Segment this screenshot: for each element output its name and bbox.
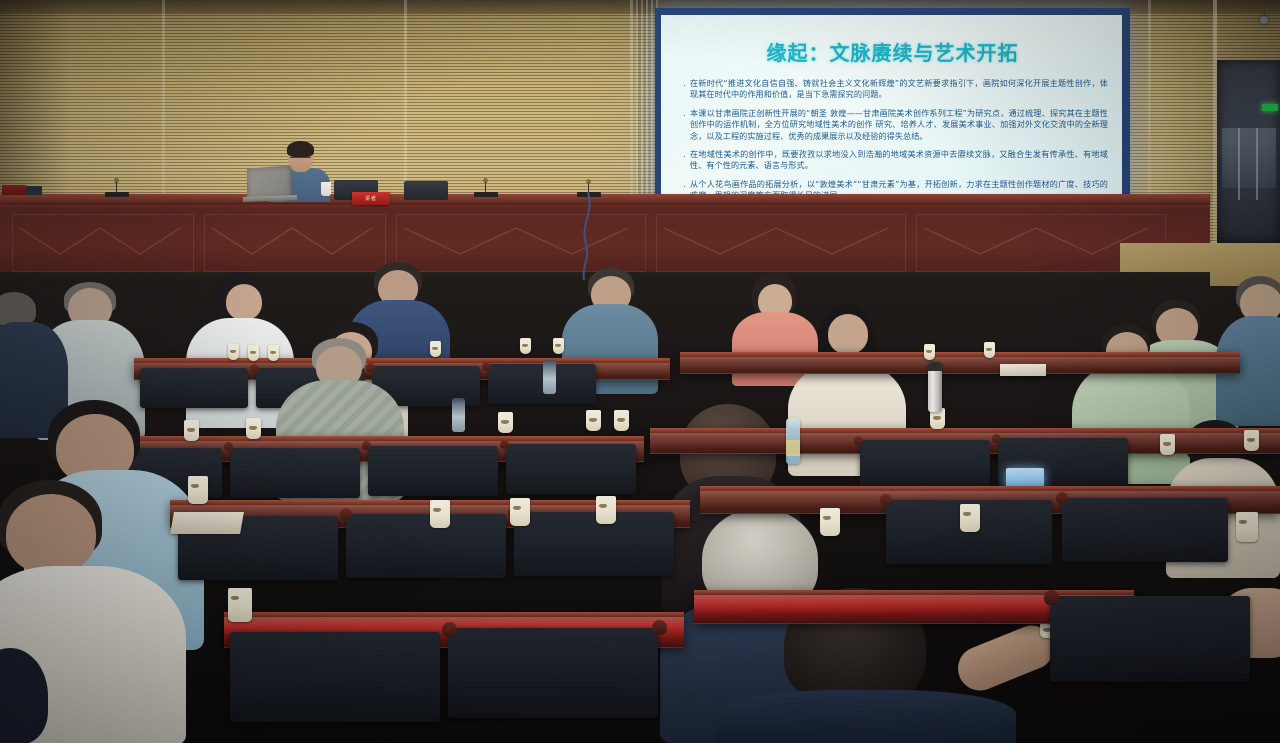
paper-cup — [188, 476, 208, 504]
thermos-flask — [928, 362, 942, 412]
paper-cup — [228, 588, 252, 622]
seat-arm — [482, 362, 491, 371]
paper-cup — [1244, 430, 1259, 451]
paper-cup — [820, 508, 840, 536]
bullet-dot-icon: · — [683, 180, 686, 192]
seat-arm — [854, 436, 863, 445]
paper-cup — [1236, 512, 1258, 542]
nameplate-label: 讲者 — [352, 192, 390, 205]
paper-cup — [960, 504, 980, 532]
seat-arm — [442, 622, 457, 637]
paper-cup — [498, 412, 513, 433]
presenter-hair — [287, 141, 314, 157]
exit-sign-icon — [1262, 104, 1278, 111]
seat-arm — [992, 434, 1001, 443]
doorway-glass — [1222, 128, 1276, 188]
bullet-dot-icon: · — [683, 150, 686, 162]
slide-title: 缘起：文脉赓续与艺术开拓 — [677, 37, 1108, 66]
seat-back — [1062, 498, 1228, 562]
open-notebook — [170, 512, 244, 534]
seat-arm — [880, 494, 892, 506]
paper-cup — [184, 420, 199, 441]
paper-cup — [553, 338, 564, 354]
pendant-light-icon — [1260, 16, 1268, 24]
stage-water-cup — [321, 182, 331, 196]
paper-cup — [228, 344, 239, 360]
paper-cup — [984, 342, 995, 358]
seat-back — [346, 514, 506, 578]
seat-arm — [224, 442, 233, 451]
list-item: · 在地域性美术的创作中，既要孜孜以求地没入到浩瀚的地域美术资源中去赓续文脉，又… — [683, 149, 1108, 172]
bullet-text: 在地域性美术的创作中，既要孜孜以求地没入到浩瀚的地域美术资源中去赓续文脉，又融合… — [690, 149, 1108, 172]
seat-back — [230, 632, 440, 722]
paper-cup — [248, 345, 259, 361]
tumbler — [543, 360, 556, 394]
seat-back — [140, 368, 248, 408]
stage-folder — [26, 186, 42, 195]
bullet-text: 在新时代“推进文化自信自强、铸就社会主义文化新辉煌”的文艺新要求指引下，画院如何… — [690, 78, 1108, 101]
seat-back — [514, 512, 674, 576]
paper-cup — [520, 338, 531, 354]
seat-back — [1050, 596, 1250, 682]
paper-cup — [924, 344, 935, 360]
doorway-mullion — [1256, 128, 1258, 200]
seat-back — [506, 444, 636, 494]
nameplate: 讲者 — [352, 192, 390, 205]
slide-bullet-list: · 在新时代“推进文化自信自强、铸就社会主义文化新辉煌”的文艺新要求指引下，画院… — [677, 78, 1108, 202]
list-item: · 本课以甘肃画院正创新性开展的“朝圣 敦煌——甘肃画院美术创作系列工程”为研究… — [683, 108, 1108, 142]
bullet-dot-icon: · — [683, 79, 686, 91]
seat-back — [230, 448, 360, 498]
laptop-screen — [247, 165, 291, 199]
glasses-icon — [290, 157, 311, 162]
paper-cup — [1160, 434, 1175, 455]
seat-arm — [250, 364, 259, 373]
seat-arm — [652, 620, 667, 635]
tumbler — [452, 398, 465, 432]
microphone-base — [105, 192, 129, 197]
seat-arm — [500, 440, 509, 449]
paper-cup — [510, 498, 530, 526]
paper-cup — [246, 418, 261, 439]
paper-cup — [586, 410, 601, 431]
paper-cup — [268, 345, 279, 361]
bottle-label — [786, 440, 800, 456]
seat-arm — [366, 363, 375, 372]
open-notebook — [1000, 364, 1046, 376]
seat-arm — [340, 508, 352, 520]
paper-cup — [430, 500, 450, 528]
water-bottle — [786, 418, 800, 464]
microphone-base — [474, 192, 498, 197]
stage-chair — [404, 181, 448, 200]
seat-back — [448, 628, 658, 718]
doorway-mullion — [1238, 128, 1240, 200]
paper-cup — [596, 496, 616, 524]
seat-back — [488, 364, 596, 404]
seat-back — [860, 440, 990, 490]
seat-back — [368, 446, 498, 496]
seat-arm — [362, 441, 371, 450]
table-row — [680, 352, 1240, 374]
stage-book — [2, 185, 26, 195]
bullet-text: 本课以甘肃画院正创新性开展的“朝圣 敦煌——甘肃画院美术创作系列工程”为研究点，… — [690, 108, 1108, 142]
paper-cup — [430, 341, 441, 357]
bullet-dot-icon: · — [683, 109, 686, 121]
paper-cup — [614, 410, 629, 431]
list-item: · 在新时代“推进文化自信自强、铸就社会主义文化新辉煌”的文艺新要求指引下，画院… — [683, 78, 1108, 101]
seat-arm — [1056, 492, 1068, 504]
thermos-cap — [928, 362, 942, 371]
seat-arm — [1044, 590, 1059, 605]
lecture-hall-photo: 缘起：文脉赓续与艺术开拓 · 在新时代“推进文化自信自强、铸就社会主义文化新辉煌… — [0, 0, 1280, 743]
